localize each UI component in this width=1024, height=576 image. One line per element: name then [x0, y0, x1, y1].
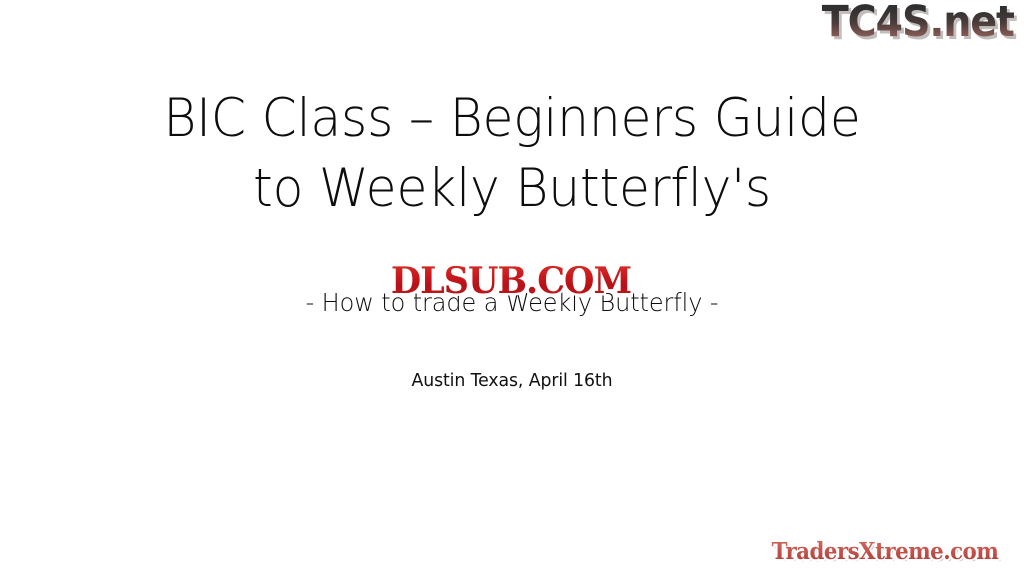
slide-dateline: Austin Texas, April 16th — [0, 369, 1024, 393]
slide-subtitle: - How to trade a Weekly Butterfly - — [0, 287, 1024, 319]
title-line-1: BIC Class – Beginners Guide — [26, 84, 999, 154]
tradersxtreme-logo: TradersXtreme.com TradersXtreme.com Trad… — [754, 536, 1016, 570]
presentation-slide: TC4S.net TC4S.net BIC Class – Beginners … — [0, 0, 1024, 576]
tc4s-logo-text: TC4S.net — [822, 0, 1014, 47]
tc4s-logo: TC4S.net TC4S.net — [822, 1, 1014, 44]
dateline-text: Austin Texas, April 16th — [20, 369, 1003, 393]
tradersxtreme-logo-fill: TradersXtreme.com — [772, 538, 999, 565]
title-line-2: to Weekly Butterfly's — [26, 154, 999, 224]
slide-title: BIC Class – Beginners Guide to Weekly Bu… — [0, 84, 1024, 224]
subtitle-text: - How to trade a Weekly Butterfly - — [20, 287, 1003, 319]
